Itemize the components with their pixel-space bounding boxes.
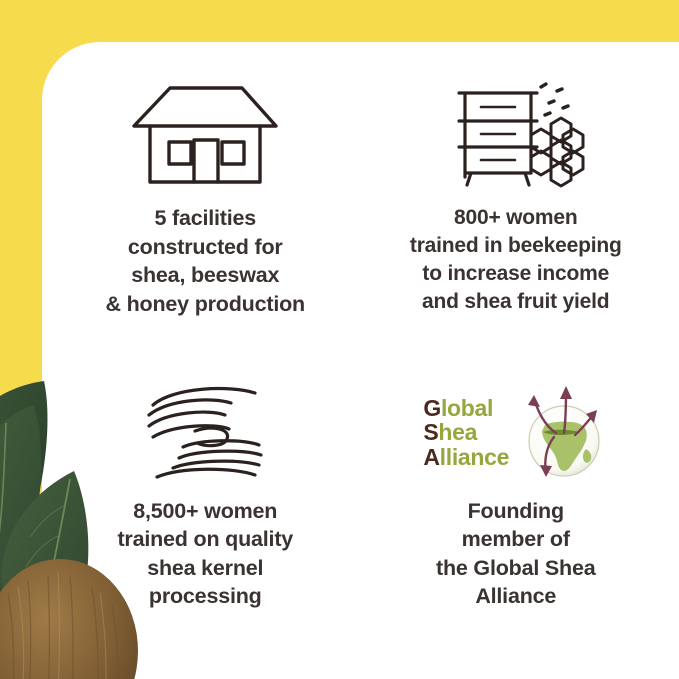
gsa-rest-lliance: lliance: [440, 444, 510, 470]
gsa-cap-s: S: [423, 419, 438, 445]
gsa-rest-hea: hea: [438, 419, 477, 445]
gsa-cap-a: A: [423, 444, 439, 470]
house-icon: [130, 82, 280, 190]
gsa-line-3: Alliance: [423, 445, 509, 470]
feature-caption: 5 facilities constructed for shea, beesw…: [106, 204, 305, 318]
feature-caption: Founding member of the Global Shea Allia…: [436, 497, 595, 611]
poster-root: 5 facilities constructed for shea, beesw…: [0, 0, 679, 679]
shea-leaf-mid-vein: [0, 423, 6, 593]
gsa-wordmark: Global Shea Alliance: [423, 396, 509, 470]
beehive-honeycomb-icon: [445, 77, 587, 195]
africa-globe-icon: [512, 383, 608, 483]
feature-caption: 8,500+ women trained on quality shea ker…: [117, 497, 293, 611]
feature-grid: 5 facilities constructed for shea, beesw…: [42, 42, 679, 679]
feature-item-kernel-processing: 8,500+ women trained on quality shea ker…: [50, 367, 361, 662]
feature-item-beekeeping: 800+ women trained in beekeeping to incr…: [361, 72, 672, 367]
feature-caption: 800+ women trained in beekeeping to incr…: [410, 204, 622, 316]
gsa-logo-wrap: Global Shea Alliance: [423, 373, 608, 493]
shea-kernel-swirl-icon: [139, 381, 271, 485]
feature-item-facilities: 5 facilities constructed for shea, beesw…: [50, 72, 361, 367]
beehive-icon-wrap: [445, 72, 587, 200]
gsa-rest-lobal: lobal: [441, 395, 493, 421]
feature-item-gsa-member: Global Shea Alliance: [361, 367, 672, 662]
shea-leaf-mid: [0, 405, 41, 603]
house-icon-wrap: [130, 72, 280, 200]
global-shea-alliance-logo: Global Shea Alliance: [423, 383, 608, 483]
gsa-line-2: Shea: [423, 420, 509, 445]
gsa-line-1: Global: [423, 396, 509, 421]
swirl-icon-wrap: [139, 373, 271, 493]
shea-leaf-back: [0, 381, 47, 575]
gsa-cap-g: G: [423, 395, 441, 421]
